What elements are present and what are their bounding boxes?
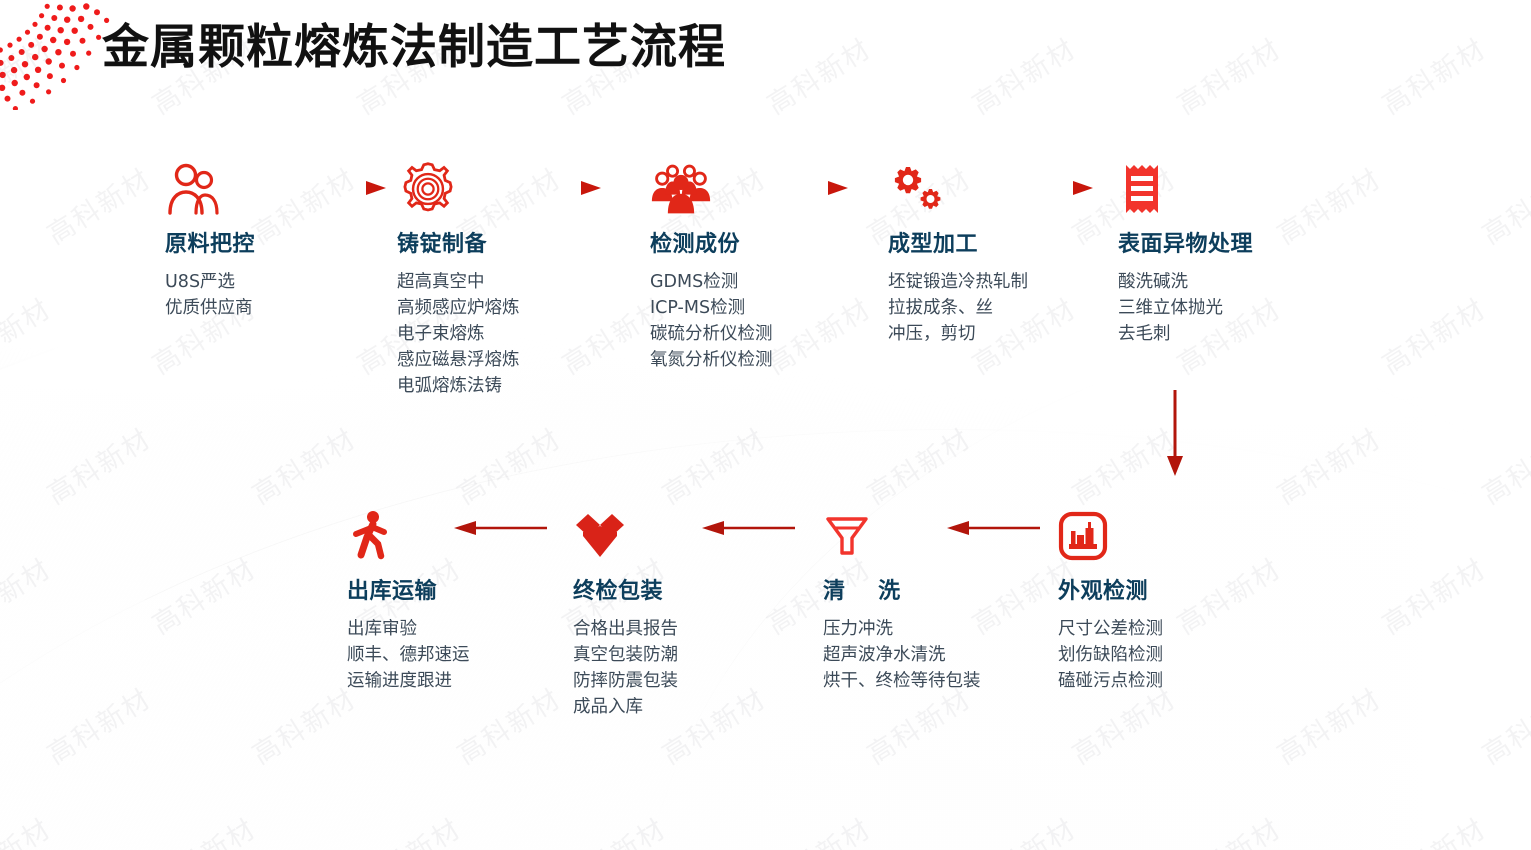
- arrow-3-4: [760, 178, 860, 198]
- step-item: 坯锭锻造冷热轧制: [888, 269, 1103, 295]
- step-item-list: 合格出具报告 真空包装防潮 防摔防震包装 成品入库: [573, 616, 748, 720]
- step-title: 出库运输: [347, 573, 532, 605]
- step-title: 外观检测: [1058, 573, 1273, 605]
- step-item: ICP-MS检测: [650, 295, 880, 321]
- step-item: 氧氮分析仪检测: [650, 347, 880, 373]
- step-item: 成品入库: [573, 694, 748, 720]
- arrow-2-3: [513, 178, 613, 198]
- step-item: 合格出具报告: [573, 616, 748, 642]
- watermark: 高科新材: [38, 417, 157, 512]
- step-item: 划伤缺陷检测: [1058, 642, 1273, 668]
- watermark: 高科新材: [1168, 807, 1287, 850]
- step-title: 原料把控: [165, 226, 380, 258]
- step-item: 防摔防震包装: [573, 668, 748, 694]
- step-final-inspection-packaging[interactable]: 终检包装 合格出具报告 真空包装防潮 防摔防震包装 成品入库: [573, 505, 748, 720]
- step-item: 优质供应商: [165, 295, 380, 321]
- watermark: 高科新材: [758, 27, 877, 122]
- watermark: 高科新材: [143, 547, 262, 642]
- step-item: 磕碰污点检测: [1058, 668, 1273, 694]
- step-item: 真空包装防潮: [573, 642, 748, 668]
- step-item: 碳硫分析仪检测: [650, 321, 880, 347]
- step-item: 尺寸公差检测: [1058, 616, 1273, 642]
- step-item: 酸洗碱洗: [1118, 269, 1333, 295]
- step-title: 铸锭制备: [397, 226, 637, 258]
- watermark: 高科新材: [0, 807, 58, 850]
- watermark: 高科新材: [1373, 287, 1492, 382]
- watermark: 高科新材: [0, 287, 58, 382]
- watermark: 高科新材: [38, 677, 157, 772]
- step-item: 电弧熔炼法铸: [397, 373, 637, 399]
- step-item: 去毛刺: [1118, 321, 1333, 347]
- step-item: 冲压，剪切: [888, 321, 1103, 347]
- watermark: 高科新材: [1168, 27, 1287, 122]
- step-surface-foreign-matter-treatment[interactable]: 表面异物处理 酸洗碱洗 三维立体抛光 去毛刺: [1118, 158, 1333, 347]
- open-box-icon: [573, 505, 748, 567]
- watermark: 高科新材: [963, 807, 1082, 850]
- watermark: 高科新材: [858, 417, 977, 512]
- watermark: 高科新材: [143, 807, 262, 850]
- step-appearance-inspection[interactable]: 外观检测 尺寸公差检测 划伤缺陷检测 磕碰污点检测: [1058, 505, 1273, 694]
- step-item: U8S严选: [165, 269, 380, 295]
- watermark: 高科新材: [1373, 27, 1492, 122]
- watermark: 高科新材: [653, 417, 772, 512]
- arrow-4-5: [1005, 178, 1105, 198]
- step-item-list: U8S严选 优质供应商: [165, 269, 380, 321]
- step-item: 感应磁悬浮熔炼: [397, 347, 637, 373]
- watermark: 高科新材: [1473, 157, 1531, 252]
- watermark: 高科新材: [1268, 417, 1387, 512]
- step-title: 成型加工: [888, 226, 1103, 258]
- step-item: 超高真空中: [397, 269, 637, 295]
- step-title: 终检包装: [573, 573, 748, 605]
- step-title: 表面异物处理: [1118, 226, 1333, 258]
- step-item: 压力冲洗: [823, 616, 998, 642]
- step-item-list: 压力冲洗 超声波净水清洗 烘干、终检等待包装: [823, 616, 998, 694]
- step-item: 出库审验: [347, 616, 532, 642]
- watermark: 高科新材: [1268, 677, 1387, 772]
- step-item: 超声波净水清洗: [823, 642, 998, 668]
- funnel-icon: [823, 505, 998, 567]
- watermark: 高科新材: [348, 807, 467, 850]
- watermark: 高科新材: [1373, 807, 1492, 850]
- watermark: 高科新材: [963, 27, 1082, 122]
- watermark: 高科新材: [1473, 417, 1531, 512]
- watermark: 高科新材: [1373, 547, 1492, 642]
- step-item-list: GDMS检测 ICP-MS检测 碳硫分析仪检测 氧氮分析仪检测: [650, 269, 880, 373]
- watermark: 高科新材: [243, 677, 362, 772]
- step-item: GDMS检测: [650, 269, 880, 295]
- arrow-1-2: [298, 178, 398, 198]
- step-item: 拉拔成条、丝: [888, 295, 1103, 321]
- watermark: 高科新材: [243, 417, 362, 512]
- step-item-list: 出库审验 顺丰、德邦速运 运输进度跟进: [347, 616, 532, 694]
- watermark: 高科新材: [38, 157, 157, 252]
- step-item-list: 尺寸公差检测 划伤缺陷检测 磕碰污点检测: [1058, 616, 1273, 694]
- page-title: 金属颗粒熔炼法制造工艺流程: [102, 8, 726, 77]
- step-item: 高频感应炉熔炼: [397, 295, 637, 321]
- step-title: 检测成份: [650, 226, 880, 258]
- watermark: 高科新材: [758, 807, 877, 850]
- step-item: 电子束熔炼: [397, 321, 637, 347]
- factory-icon: [1058, 505, 1273, 567]
- step-item: 运输进度跟进: [347, 668, 532, 694]
- walking-person-icon: [347, 505, 532, 567]
- receipt-icon: [1118, 158, 1333, 220]
- step-item-list: 超高真空中 高频感应炉熔炼 电子束熔炼 感应磁悬浮熔炼 电弧熔炼法铸: [397, 269, 637, 399]
- arrow-5-6: [1163, 390, 1187, 482]
- slide-canvas: 高科新材高科新材高科新材高科新材高科新材高科新材高科新材高科新材高科新材高科新材…: [0, 0, 1531, 850]
- watermark: 高科新材: [0, 547, 58, 642]
- step-title: 清 洗: [823, 573, 998, 605]
- step-item: 三维立体抛光: [1118, 295, 1333, 321]
- step-item: 烘干、终检等待包装: [823, 668, 998, 694]
- step-item: 顺丰、德邦速运: [347, 642, 532, 668]
- step-item-list: 酸洗碱洗 三维立体抛光 去毛刺: [1118, 269, 1333, 347]
- watermark: 高科新材: [553, 807, 672, 850]
- watermark: 高科新材: [1473, 677, 1531, 772]
- step-cleaning[interactable]: 清 洗 压力冲洗 超声波净水清洗 烘干、终检等待包装: [823, 505, 998, 694]
- step-outbound-transport[interactable]: 出库运输 出库审验 顺丰、德邦速运 运输进度跟进: [347, 505, 532, 694]
- watermark: 高科新材: [448, 417, 567, 512]
- step-item-list: 坯锭锻造冷热轧制 拉拔成条、丝 冲压，剪切: [888, 269, 1103, 347]
